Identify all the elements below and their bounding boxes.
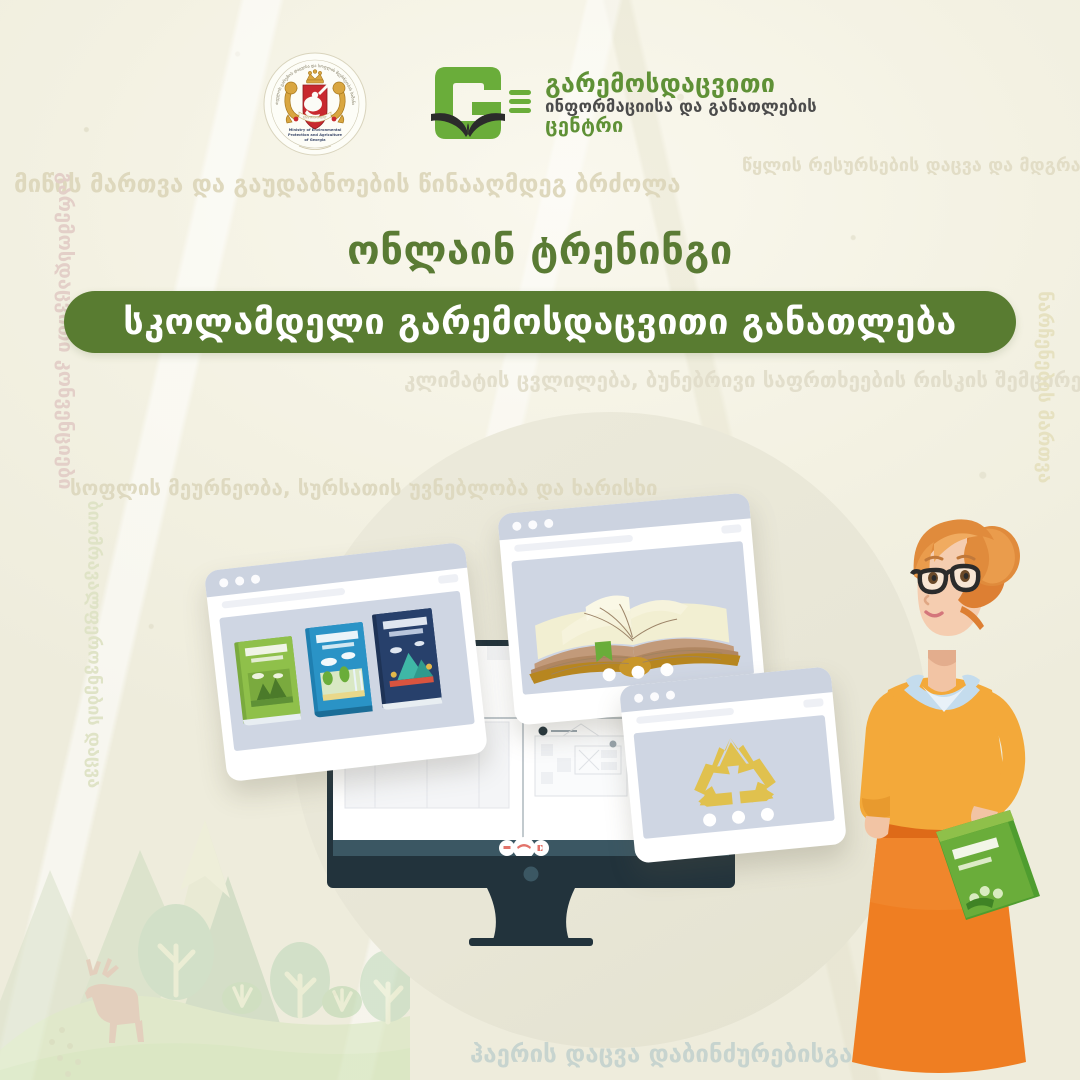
teacher-character xyxy=(842,510,1080,1080)
header-logos: საქართველოს გარემოს დაცვისა და სოფლის მე… xyxy=(0,52,1080,156)
watermark-vertical-left-inner: ბიომრავალფეროვნების დაცვა xyxy=(84,501,105,801)
window-maximize-icon[interactable] xyxy=(251,574,261,584)
emblem-caption-line2: Protection and Agriculture xyxy=(288,133,343,137)
call-controls xyxy=(499,837,549,859)
gic-logo-line3: ცენტრი xyxy=(545,115,817,136)
browser-card-recycle[interactable] xyxy=(619,666,847,863)
emblem-footer-word: ENVIRONMENT xyxy=(303,116,327,120)
watermark-mid-left: სოფლის მეურნეობა, სურსათის უვნებლობა და … xyxy=(70,476,658,500)
emblem-caption-line3: of Georgia xyxy=(305,138,327,142)
watermark-mid-right: კლიმატის ცვლილება, ბუნებრივი საფრთხეების… xyxy=(404,368,1080,392)
card-recycle-viewport xyxy=(634,715,835,839)
title-banner: სკოლამდელი გარემოსდაცვითი განათლება xyxy=(64,291,1016,353)
gic-logo-line1: გარემოსდაცვითი xyxy=(545,71,817,98)
address-bar[interactable] xyxy=(514,534,633,551)
book-cover-green xyxy=(234,636,301,726)
page-title: ონლაინ ტრენინგი xyxy=(0,228,1080,274)
window-close-icon[interactable] xyxy=(634,693,644,703)
watermark-top-left: მიწის მართვა და გაუდაბნოების წინააღმდეგ … xyxy=(14,170,681,198)
gic-logo: გარემოსდაცვითი ინფორმაციისა და განათლები… xyxy=(425,64,817,144)
window-minimize-icon[interactable] xyxy=(528,519,538,529)
book-cover-blue xyxy=(305,622,373,718)
ministry-emblem: საქართველოს გარემოს დაცვისა და სოფლის მე… xyxy=(263,52,367,156)
window-maximize-icon[interactable] xyxy=(666,690,676,700)
pager-dot[interactable] xyxy=(760,807,774,821)
window-maximize-icon[interactable] xyxy=(544,518,554,528)
watermark-top-right: წყლის რესურსების დაცვა და მდგრადი მართვა xyxy=(742,155,1080,176)
address-bar[interactable] xyxy=(636,707,734,723)
browser-card-books[interactable] xyxy=(204,542,488,782)
emblem-caption-line1: Ministry of Environmental xyxy=(289,128,342,132)
window-close-icon[interactable] xyxy=(512,521,522,531)
toolbar-button[interactable] xyxy=(803,698,824,708)
window-minimize-icon[interactable] xyxy=(650,691,660,701)
gic-logo-mark xyxy=(425,64,533,144)
title-banner-text: სკოლამდელი გარემოსდაცვითი განათლება xyxy=(123,302,957,343)
watermark-bottom: ჰაერის დაცვა დაბინძურებისგან xyxy=(470,1040,866,1068)
window-close-icon[interactable] xyxy=(219,577,229,587)
pager-dot[interactable] xyxy=(659,663,673,677)
toolbar-button[interactable] xyxy=(721,524,742,534)
card-book-viewport xyxy=(511,541,754,695)
toolbar-button[interactable] xyxy=(438,574,459,584)
pager-dot[interactable] xyxy=(731,810,745,824)
card-books-viewport xyxy=(219,591,475,752)
poster-root: საქართველოს გარემოს დაცვისა და სოფლის მე… xyxy=(0,0,1080,1080)
pager-dot[interactable] xyxy=(630,665,644,679)
pager-dot[interactable] xyxy=(702,813,716,827)
title-kicker: ონლაინ ტრენინგი xyxy=(0,228,1080,274)
pager-dot[interactable] xyxy=(602,668,616,682)
book-cover-navy xyxy=(372,608,442,710)
window-minimize-icon[interactable] xyxy=(235,576,245,586)
